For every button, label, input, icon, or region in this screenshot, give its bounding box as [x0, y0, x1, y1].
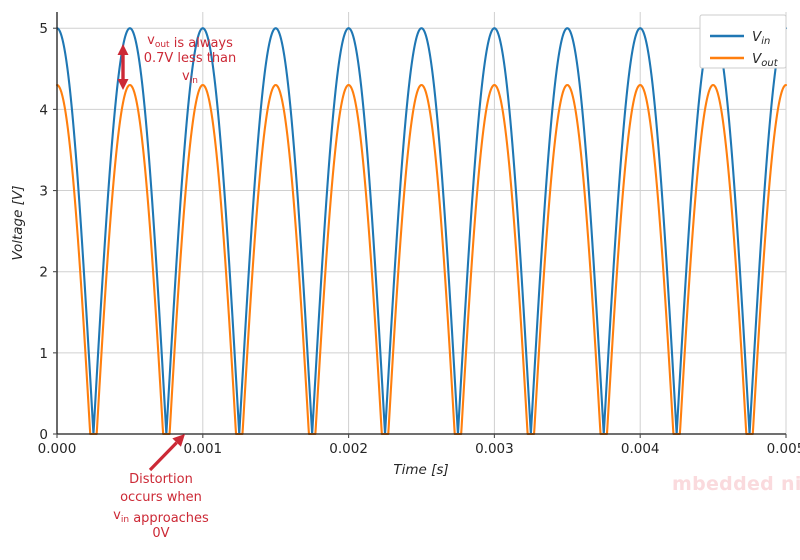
legend-subscript: out: [761, 58, 778, 69]
y-tick-label: 4: [39, 102, 48, 118]
x-tick-label: 0.000: [38, 441, 77, 457]
x-tick-label: 0.005: [767, 441, 800, 457]
annotation-line: 0.7V less than: [144, 51, 237, 66]
y-tick-label: 2: [39, 265, 48, 281]
x-axis-title: Time [s]: [393, 462, 448, 478]
y-tick-label: 1: [39, 346, 48, 362]
y-tick-label: 5: [39, 21, 48, 37]
y-axis-title: Voltage [V]: [10, 186, 26, 261]
voltage-vs-time-chart: 0.0000.0010.0020.0030.0040.005 012345 Ti…: [0, 0, 800, 560]
annotation-line: occurs when: [120, 490, 202, 505]
watermark: mbedded ninja: [672, 473, 800, 495]
legend-subscript: in: [761, 36, 770, 47]
y-tick-label: 3: [39, 184, 48, 200]
chart-legend[interactable]: VinVout: [700, 15, 786, 69]
x-tick-label: 0.004: [621, 441, 660, 457]
annotation-line: Distortion: [129, 472, 193, 487]
annotation-line: 0V: [152, 526, 169, 541]
x-tick-label: 0.002: [329, 441, 368, 457]
x-tick-label: 0.001: [183, 441, 222, 457]
x-tick-label: 0.003: [475, 441, 514, 457]
y-tick-label: 0: [39, 427, 48, 443]
